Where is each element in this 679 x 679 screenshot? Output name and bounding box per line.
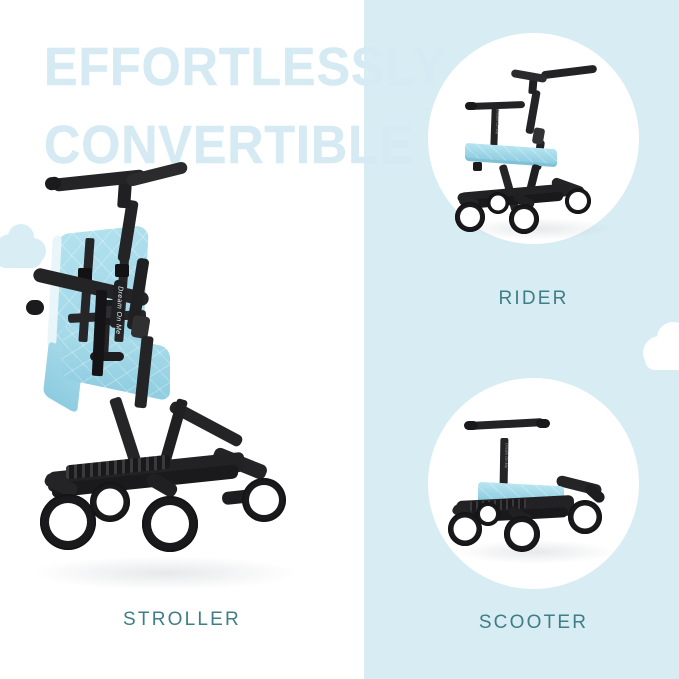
scooter-wheel-front-left xyxy=(448,512,482,546)
product-image-rider: Dream On Me xyxy=(455,60,619,230)
rider-child-handle-bar xyxy=(469,101,525,110)
scooter-child-handle-bar xyxy=(470,418,544,430)
scooter-brand-logo: Dream On Me xyxy=(500,443,509,481)
headline-line-1: EFFORTLESSLY xyxy=(44,37,447,97)
rider-wheel-front-right xyxy=(509,204,539,234)
cloud-icon-right xyxy=(641,320,679,372)
scooter-wheel-rear-right xyxy=(568,500,602,534)
rider-push-handle-bar-right xyxy=(541,65,598,80)
scooter-handle-grip-left xyxy=(464,421,478,430)
wheel-rear-inner xyxy=(90,482,130,522)
wheel-rear-right xyxy=(242,478,286,522)
harness-slider-right xyxy=(115,264,129,277)
rider-child-handle-grip xyxy=(465,102,477,110)
product-image-stroller: Dream On Me xyxy=(26,160,326,580)
wheel-front-left xyxy=(40,494,96,550)
caption-scooter: SCOOTER xyxy=(428,612,639,634)
bumper-bar-end-cap xyxy=(26,300,44,315)
rider-wheel-front-left xyxy=(455,202,485,232)
wheel-front-right xyxy=(142,496,198,552)
rider-seat-clip xyxy=(473,162,482,171)
scooter-wheel-front-right xyxy=(504,516,540,552)
rider-brand-logo: Dream On Me xyxy=(491,109,500,143)
caption-stroller: STROLLER xyxy=(44,609,320,631)
product-image-scooter: Dream On Me xyxy=(448,400,628,560)
scooter-handle-grip-right xyxy=(536,419,550,428)
push-handle-bar-right xyxy=(125,161,188,188)
rider-wheel-rear-inner xyxy=(487,192,509,214)
caption-rider: RIDER xyxy=(428,288,639,310)
marketing-image: EFFORTLESSLY CONVERTIBLE Dream On Me xyxy=(0,0,679,679)
rider-wheel-rear-right xyxy=(565,188,591,214)
